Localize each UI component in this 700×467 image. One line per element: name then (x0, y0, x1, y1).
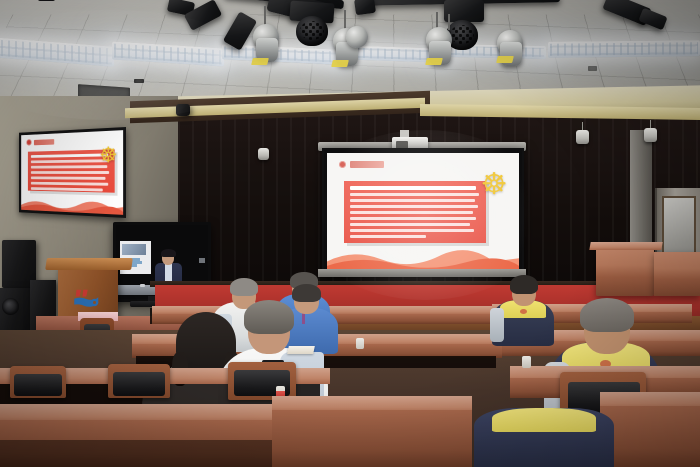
ceiling-downlight (644, 128, 657, 142)
spotlight-hanger (264, 6, 266, 26)
desk-row-1-front-far-right (600, 406, 700, 467)
spotlight-gel-clip (425, 58, 443, 65)
slide-text-panel (344, 181, 486, 242)
chair-cushion (113, 372, 165, 396)
spotlight-gel-clip (496, 56, 514, 63)
attendee-safety-vest (492, 408, 596, 432)
slide-wave-decoration (21, 195, 123, 215)
ceiling-speaker (176, 104, 190, 116)
slide-header (339, 161, 384, 168)
spotlight-gel-clip (331, 60, 349, 67)
attendee-sleeve (490, 308, 504, 342)
stage-cabinet-top (589, 242, 662, 250)
conference-camera-icon (38, 0, 55, 1)
corporate-logo-icon (72, 288, 102, 314)
projection-screen-frame: ☸ (322, 148, 524, 276)
open-book[interactable] (287, 346, 315, 354)
attendee-hair (580, 298, 634, 332)
speaker-driver (2, 298, 19, 315)
spotlight-gel-clip (251, 58, 269, 65)
wall-mounted-tv: ☸ (19, 127, 126, 218)
attendee-hair (230, 278, 258, 296)
slide-bullet-icon (339, 161, 346, 168)
screen-bottom-weight-bar (318, 269, 526, 277)
party-emblem-icon: ☸ (97, 140, 119, 170)
presenter-shirt (165, 264, 172, 281)
attendee-hair (510, 275, 538, 294)
ceiling-downlight (576, 130, 589, 144)
spotlight (346, 26, 368, 48)
video-feed-badge (199, 258, 205, 263)
remote-microphone (140, 284, 145, 287)
spotlight-hanger (448, 14, 450, 30)
slide-header (27, 138, 55, 145)
chair-cushion (14, 374, 62, 396)
ceiling-downlight (258, 148, 269, 160)
conference-room-photo: ☸ (0, 0, 700, 467)
vest-logo-icon (520, 309, 527, 314)
tv-slide-content: ☸ (21, 130, 123, 215)
moving-head-yoke (444, 0, 484, 22)
slide-header-title (350, 161, 384, 168)
stage-cabinet (596, 246, 654, 296)
party-emblem-icon: ☸ (473, 165, 515, 205)
lectern-top (45, 258, 133, 270)
slide-wave-decoration (327, 243, 519, 271)
attendee-hair (244, 300, 294, 334)
slide-header-title (34, 139, 54, 145)
presenter-hair (161, 249, 175, 258)
paper-cup[interactable] (522, 356, 531, 368)
projection-screen-surface: ☸ (327, 153, 519, 271)
desk-row-1-front-right (272, 410, 472, 467)
attendee-front-edge (474, 408, 614, 467)
projected-slide: ☸ (327, 153, 519, 271)
paper-cup[interactable] (356, 338, 364, 349)
stage-cabinet (654, 252, 700, 296)
slide-bullet-icon (27, 139, 32, 145)
moving-head-light (296, 16, 328, 46)
